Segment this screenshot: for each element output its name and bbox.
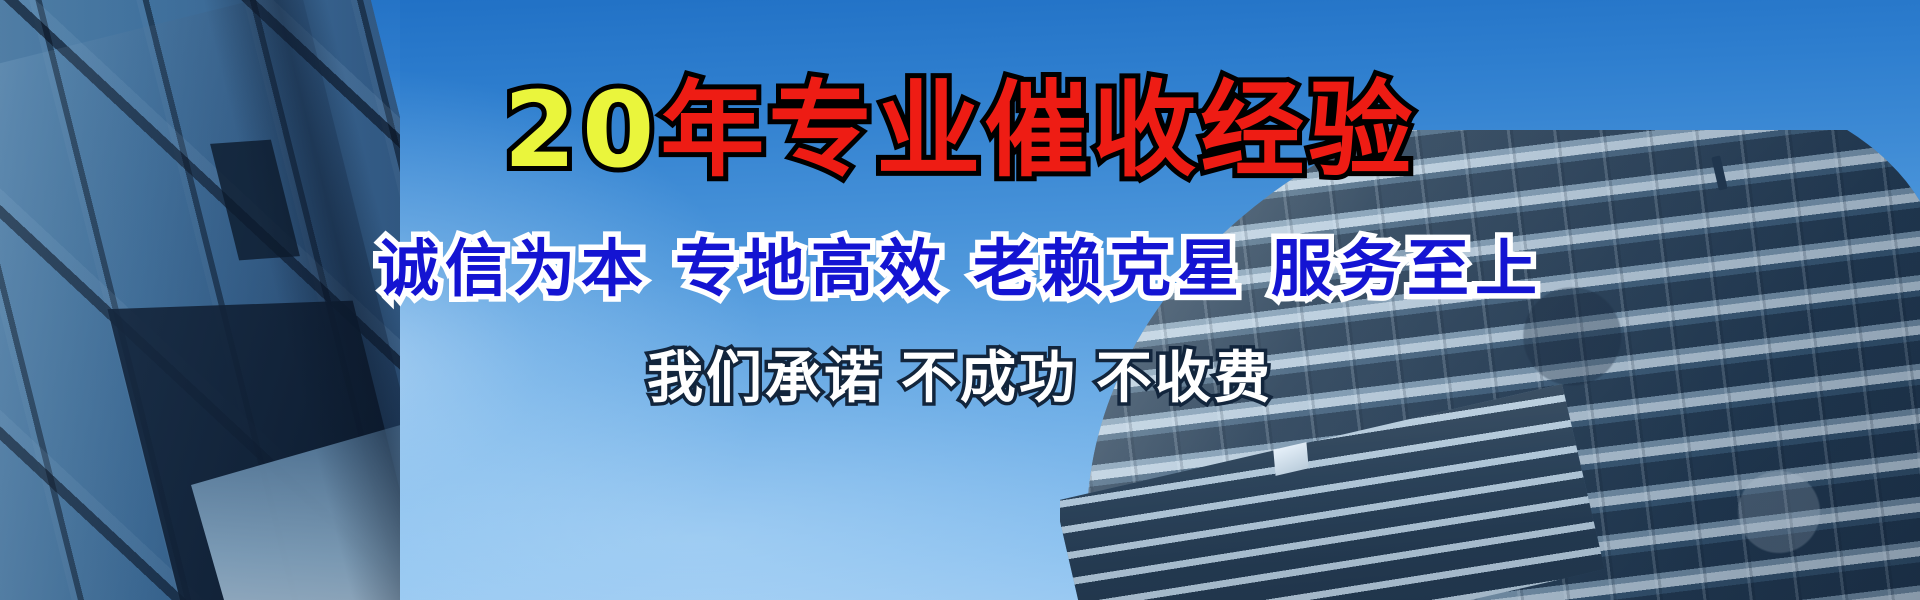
- headline-number: 20: [504, 69, 661, 191]
- promise-phrase-1: 我们承诺: [647, 346, 883, 411]
- promise-line: 我们承诺不成功不收费: [0, 333, 1920, 414]
- headline-text: 年专业催收经验: [660, 69, 1416, 191]
- headline: 20年专业催收经验: [0, 72, 1920, 188]
- promise-phrase-3: 不收费: [1096, 346, 1273, 411]
- slogan-phrase-2: 专地高效: [675, 232, 947, 305]
- slogan-phrase-3: 老赖克星: [973, 232, 1245, 305]
- promo-banner: 20年专业催收经验 诚信为本专地高效老赖克星服务至上 我们承诺不成功不收费: [0, 0, 1920, 600]
- promise-phrase-2: 不成功: [901, 346, 1078, 411]
- slogan-phrase-4: 服务至上: [1271, 232, 1543, 305]
- slogan-line: 诚信为本专地高效老赖克星服务至上: [0, 218, 1920, 308]
- slogan-phrase-1: 诚信为本: [377, 232, 649, 305]
